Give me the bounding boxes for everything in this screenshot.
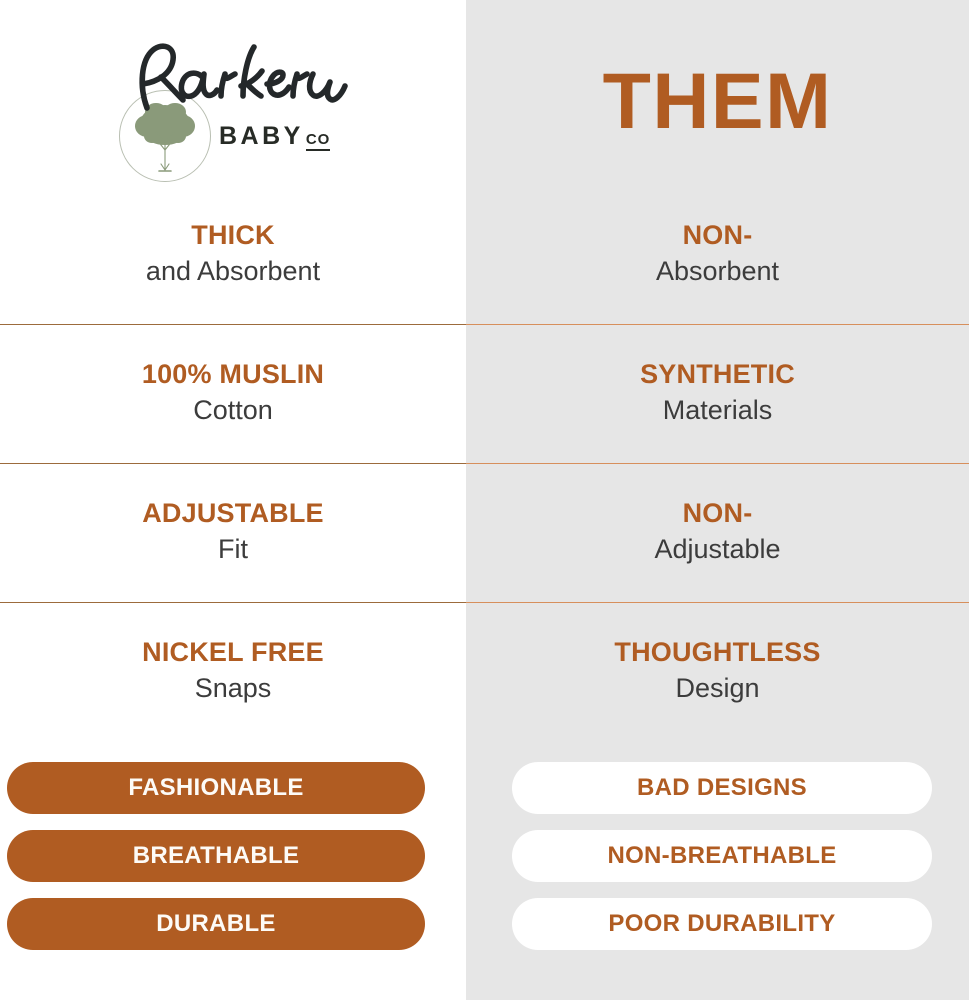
pill-col-theirs: NON-BREATHABLE xyxy=(466,830,969,898)
feature-subtitle: Snaps xyxy=(195,673,272,705)
feature-title: THICK xyxy=(191,220,275,252)
header: BABYCO THEM xyxy=(0,0,969,200)
competitor-title: THEM xyxy=(603,61,833,140)
brand-logo: BABYCO xyxy=(117,38,349,162)
pill-theirs[interactable]: BAD DESIGNS xyxy=(512,762,932,814)
comparison-cell-ours: NICKEL FREE Snaps xyxy=(0,603,466,742)
comparison-cell-theirs: NON- Absorbent xyxy=(466,186,969,325)
pill-col-ours: FASHIONABLE xyxy=(0,762,466,830)
comparison-cell-ours: 100% MUSLIN Cotton xyxy=(0,325,466,464)
comparison-infographic: BABYCO THEM THICK and Absorbent NON- Abs… xyxy=(0,0,969,1000)
feature-title: NON- xyxy=(683,498,753,530)
comparison-rows: THICK and Absorbent NON- Absorbent 100% … xyxy=(0,186,969,742)
pill-row: FASHIONABLE BAD DESIGNS xyxy=(0,762,969,830)
pill-ours[interactable]: DURABLE xyxy=(7,898,425,950)
brand-babyco-text: BABYCO xyxy=(219,124,330,149)
comparison-row: 100% MUSLIN Cotton SYNTHETIC Materials xyxy=(0,325,969,464)
feature-subtitle: Cotton xyxy=(193,395,273,427)
feature-subtitle: Materials xyxy=(663,395,773,427)
comparison-row: ADJUSTABLE Fit NON- Adjustable xyxy=(0,464,969,603)
feature-title: NON- xyxy=(683,220,753,252)
comparison-row: NICKEL FREE Snaps THOUGHTLESS Design xyxy=(0,603,969,742)
benefit-pill-section: FASHIONABLE BAD DESIGNS BREATHABLE NON-B… xyxy=(0,762,969,966)
brand-baby-text: BABY xyxy=(219,122,304,150)
brand-script-wordmark xyxy=(117,38,349,118)
header-right: THEM xyxy=(466,0,969,200)
feature-subtitle: Absorbent xyxy=(656,256,779,288)
pill-col-theirs: BAD DESIGNS xyxy=(466,762,969,830)
comparison-row: THICK and Absorbent NON- Absorbent xyxy=(0,186,969,325)
pill-theirs[interactable]: POOR DURABILITY xyxy=(512,898,932,950)
comparison-cell-theirs: SYNTHETIC Materials xyxy=(466,325,969,464)
feature-title: SYNTHETIC xyxy=(640,359,795,391)
feature-subtitle: and Absorbent xyxy=(146,256,320,288)
feature-subtitle: Design xyxy=(675,673,759,705)
feature-subtitle: Fit xyxy=(218,534,248,566)
pill-col-ours: DURABLE xyxy=(0,898,466,966)
pill-ours[interactable]: BREATHABLE xyxy=(7,830,425,882)
comparison-cell-theirs: THOUGHTLESS Design xyxy=(466,603,969,742)
feature-title: NICKEL FREE xyxy=(142,637,324,669)
header-left: BABYCO xyxy=(0,0,466,200)
pill-row: DURABLE POOR DURABILITY xyxy=(0,898,969,966)
comparison-cell-ours: ADJUSTABLE Fit xyxy=(0,464,466,603)
pill-row: BREATHABLE NON-BREATHABLE xyxy=(0,830,969,898)
feature-title: THOUGHTLESS xyxy=(614,637,820,669)
feature-title: ADJUSTABLE xyxy=(142,498,324,530)
feature-subtitle: Adjustable xyxy=(654,534,780,566)
pill-col-theirs: POOR DURABILITY xyxy=(466,898,969,966)
pill-ours[interactable]: FASHIONABLE xyxy=(7,762,425,814)
feature-title: 100% MUSLIN xyxy=(142,359,324,391)
comparison-cell-ours: THICK and Absorbent xyxy=(0,186,466,325)
comparison-cell-theirs: NON- Adjustable xyxy=(466,464,969,603)
pill-col-ours: BREATHABLE xyxy=(0,830,466,898)
pill-theirs[interactable]: NON-BREATHABLE xyxy=(512,830,932,882)
brand-co-text: CO xyxy=(306,131,331,151)
